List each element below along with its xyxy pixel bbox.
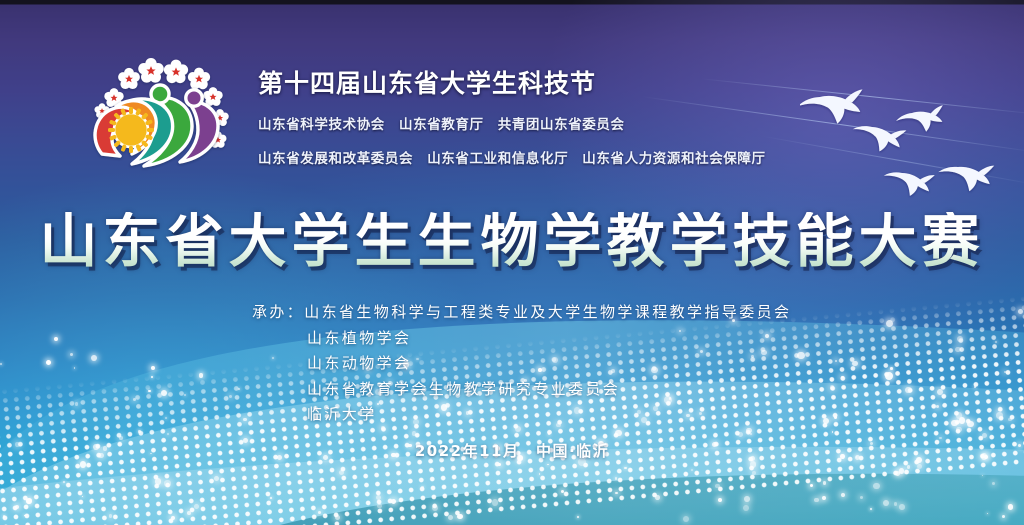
- host-item-0: 山东省生物科学与工程类专业及大学生物学课程教学指导委员会: [304, 303, 791, 321]
- header-text-block: 第十四届山东省大学生科技节 山东省科学技术协会 山东省教育厅 共青团山东省委员会…: [258, 70, 878, 167]
- event-series-title: 第十四届山东省大学生科技节: [258, 70, 878, 98]
- dove-4: [881, 155, 937, 202]
- organizers-line-2: 山东省发展和改革委员会 山东省工业和信息化厅 山东省人力资源和社会保障厅: [258, 147, 878, 167]
- organizers-line-1: 山东省科学技术协会 山东省教育厅 共青团山东省委员会: [258, 113, 878, 133]
- host-item-3: 山东省教育学会生物教学研究专业委员会: [252, 377, 791, 403]
- host-item-2: 山东动物学会: [252, 351, 791, 377]
- host-item-1: 山东植物学会: [252, 326, 791, 352]
- dove-5: [936, 148, 996, 197]
- poster-canvas: 第十四届山东省大学生科技节 山东省科学技术协会 山东省教育厅 共青团山东省委员会…: [0, 0, 1024, 525]
- host-item-4: 临沂大学: [252, 402, 791, 428]
- dove-3: [895, 99, 945, 134]
- hosts-block: 承办：山东省生物科学与工程类专业及大学生物学课程教学指导委员会 山东植物学会 山…: [252, 300, 791, 428]
- date-location-line: 2022年11月 中国·临沂: [0, 440, 1024, 461]
- host-line-primary: 承办：山东省生物科学与工程类专业及大学生物学课程教学指导委员会: [252, 300, 791, 326]
- main-title: 山东省大学生生物学教学技能大赛: [0, 212, 1024, 270]
- science-festival-emblem: [68, 58, 243, 183]
- hosts-label: 承办：: [252, 303, 304, 321]
